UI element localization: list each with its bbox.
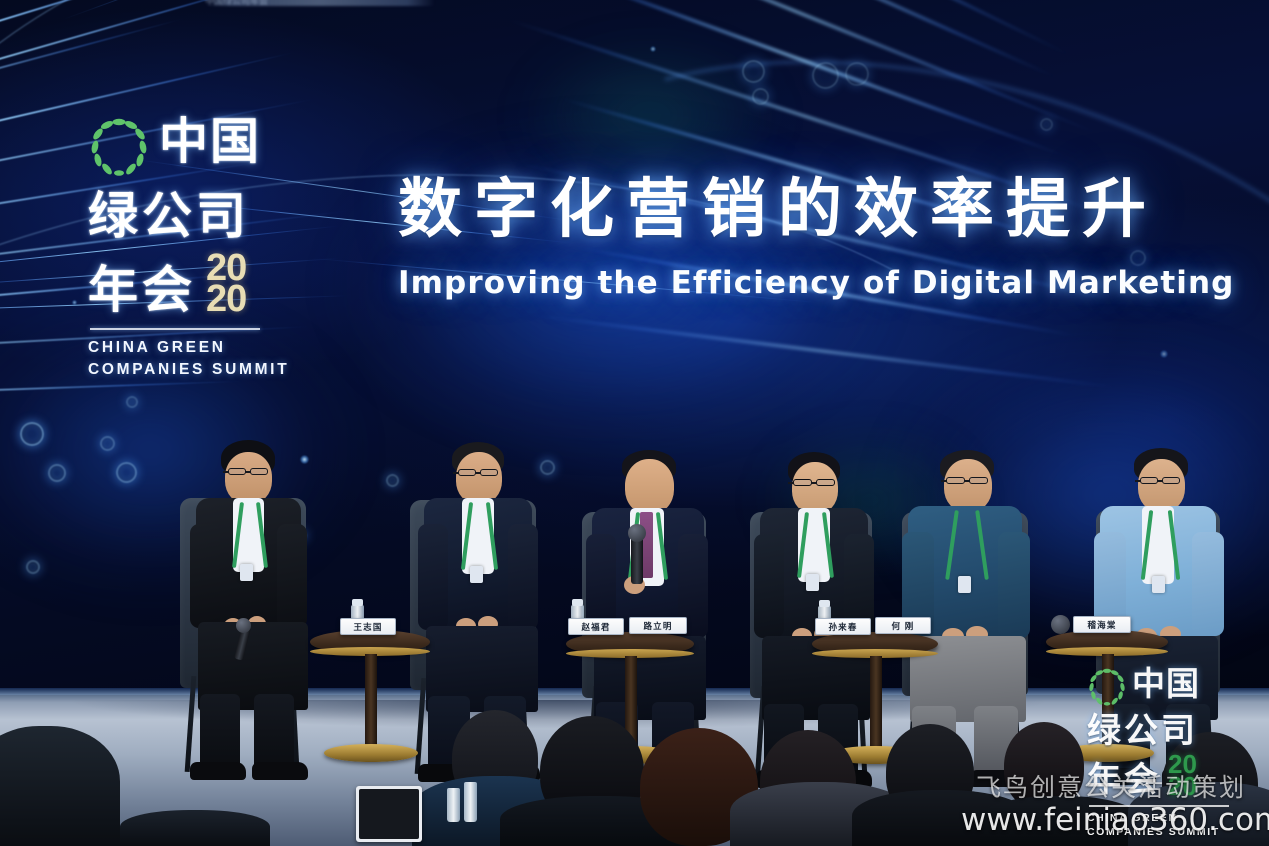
- side-table-1: [310, 630, 430, 770]
- green-wreath-icon: [88, 116, 150, 178]
- logo-text-en-line1: CHINA GREEN: [88, 337, 293, 359]
- nameplate-2-text: 赵福君: [581, 621, 610, 633]
- logo-text-annual-meeting: 年会: [88, 265, 196, 315]
- water-bottle: [464, 782, 477, 822]
- nameplate-3: 路立明: [629, 617, 687, 634]
- nameplate-6: 稽海棠: [1073, 616, 1131, 633]
- logo-year: 20 20: [206, 253, 246, 315]
- panelist-6-head: [1138, 459, 1185, 512]
- nameplate-5-text: 何 刚: [892, 620, 915, 632]
- audience-silhouette: [0, 726, 120, 846]
- conference-photo: 中国绿公司年会: [0, 0, 1269, 846]
- tablet-screen: [359, 789, 419, 839]
- bokeh-ring: [845, 62, 869, 86]
- session-title-cn: 数字化营销的效率提升: [398, 176, 1218, 243]
- corner-logo-en-line1: CHINA GREEN: [1087, 811, 1263, 826]
- corner-logo-green-company: 绿公司: [1087, 714, 1263, 748]
- logo-text-china: 中国: [159, 118, 261, 167]
- bokeh-ring: [812, 62, 839, 89]
- nameplate-6-text: 稽海棠: [1087, 619, 1116, 631]
- green-wreath-icon: [1087, 667, 1127, 707]
- nameplate-4-text: 孙来春: [828, 621, 857, 633]
- bokeh-ring: [386, 474, 399, 487]
- nameplate-4: 孙来春: [815, 618, 871, 635]
- nameplate-1-text: 王志国: [353, 621, 382, 633]
- panelist-1-head: [225, 452, 272, 504]
- bokeh-ring: [742, 60, 765, 83]
- corner-logo-annual-meeting: 年会: [1087, 763, 1161, 797]
- logo-text-green-company: 绿公司: [88, 191, 293, 241]
- corner-logo-year: 20 20: [1168, 754, 1197, 797]
- nameplate-5: 何 刚: [875, 617, 931, 634]
- nameplate-2: 赵福君: [568, 618, 624, 635]
- bokeh-ring: [26, 560, 40, 574]
- session-title-en: Improving the Efficiency of Digital Mark…: [398, 265, 1218, 301]
- bokeh-ring: [100, 436, 115, 451]
- logo-divider: [90, 328, 260, 330]
- bokeh-ring: [126, 396, 138, 408]
- bokeh-ring: [116, 462, 137, 483]
- session-title-block: 数字化营销的效率提升 Improving the Efficiency of D…: [398, 176, 1218, 301]
- corner-logo-china: 中国: [1132, 667, 1200, 700]
- water-bottle: [447, 788, 460, 822]
- logo-year-bottom: 20: [206, 284, 246, 315]
- bokeh-ring: [1040, 118, 1053, 131]
- logo-text-en-line2: COMPANIES SUMMIT: [88, 359, 293, 381]
- bokeh-ring: [752, 88, 769, 105]
- bokeh-ring: [48, 464, 66, 482]
- top-cropped-banner: 中国绿公司年会: [205, 0, 435, 6]
- bokeh-ring: [20, 422, 44, 446]
- panelist-3-head: [625, 459, 674, 514]
- table-microphone: [1051, 615, 1070, 634]
- audience-tablet: [356, 786, 422, 842]
- event-logo: 中国 绿公司 年会 20 20 CHINA GREEN COMPANIES SU…: [88, 112, 293, 381]
- handheld-microphone: [631, 536, 643, 584]
- event-logo-corner: 中国 绿公司 年会 20 20 CHINA GREEN COMPANIES SU…: [1087, 665, 1263, 840]
- corner-logo-year-bottom: 20: [1168, 776, 1197, 797]
- panelist-2-head: [456, 452, 502, 504]
- panelist-4-head: [792, 462, 838, 514]
- corner-logo-divider: [1089, 805, 1229, 807]
- nameplate-3-text: 路立明: [643, 620, 672, 632]
- panelist-5-head: [944, 459, 992, 512]
- corner-logo-en-line2: COMPANIES SUMMIT: [1087, 825, 1263, 840]
- nameplate-1: 王志国: [340, 618, 396, 635]
